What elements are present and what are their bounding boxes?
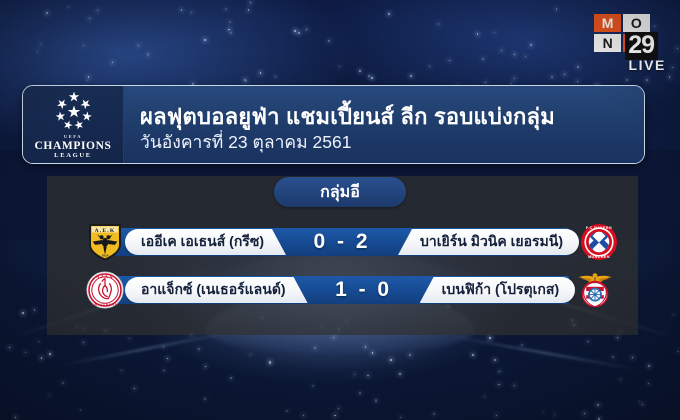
svg-text:AMSTERDAM: AMSTERDAM bbox=[91, 302, 119, 306]
mono-letter-m: M bbox=[594, 14, 621, 32]
page-subtitle-date: วันอังคารที่ 23 ตุลาคม 2561 bbox=[140, 132, 644, 153]
home-team-label: เออีเค เอเธนส์ (กรีซ) bbox=[141, 231, 264, 253]
champions-league-wordmark: UEFA CHAMPIONS LEAGUE bbox=[35, 135, 112, 160]
mono-letter-o1: O bbox=[623, 14, 650, 32]
match-score: 1 - 0 bbox=[308, 276, 420, 304]
match-row[interactable]: A.E.K 1924 เออีเค เอเธนส์ (กรีซ) 0 - 2 บ… bbox=[85, 222, 599, 262]
mono-letter-n: N bbox=[594, 34, 621, 52]
ajax-crest: AJAX AMSTERDAM bbox=[85, 270, 125, 310]
home-team-name: เออีเค เอเธนส์ (กรีซ) bbox=[125, 229, 286, 255]
svg-text:1924: 1924 bbox=[102, 254, 109, 258]
mono-channel-number: 29 bbox=[625, 32, 658, 60]
aek-athens-crest: A.E.K 1924 bbox=[85, 222, 125, 262]
svg-text:F.C.BAYERN: F.C.BAYERN bbox=[586, 226, 612, 230]
group-label-pill: กลุ่มอี bbox=[274, 177, 406, 207]
match-score: 0 - 2 bbox=[286, 228, 398, 256]
away-team-name: บาเยิร์น มิวนิค เยอรมนี) bbox=[398, 229, 579, 255]
bayern-munich-crest: F.C.BAYERN MÜNCHEN bbox=[579, 222, 619, 262]
header-title-bar: UEFA CHAMPIONS LEAGUE ผลฟุตบอลยูฟ่า แชมเ… bbox=[22, 85, 645, 164]
away-team-name: เบนฟิก้า (โปรตุเกส) bbox=[420, 277, 576, 303]
champions-league-logo: UEFA CHAMPIONS LEAGUE bbox=[23, 86, 124, 163]
header-text-block: ผลฟุตบอลยูฟ่า แชมเปี้ยนส์ ลีก รอบแบ่งกลุ… bbox=[124, 86, 644, 163]
benfica-crest bbox=[575, 270, 615, 310]
svg-text:A.E.K: A.E.K bbox=[95, 228, 116, 234]
page-title: ผลฟุตบอลยูฟ่า แชมเปี้ยนส์ ลีก รอบแบ่งกลุ… bbox=[140, 105, 644, 130]
league-label: LEAGUE bbox=[35, 153, 112, 160]
away-team-label: บาเยิร์น มิวนิค เยอรมนี) bbox=[420, 231, 563, 253]
champions-label: CHAMPIONS bbox=[35, 141, 112, 153]
match-row[interactable]: AJAX AMSTERDAM อาแจ็กซ์ (เนเธอร์แลนด์) 1… bbox=[85, 270, 599, 310]
svg-text:AJAX: AJAX bbox=[96, 274, 114, 279]
away-team-label: เบนฟิก้า (โปรตุเกส) bbox=[442, 279, 560, 301]
svg-text:MÜNCHEN: MÜNCHEN bbox=[588, 254, 610, 259]
channel-logo-mono29: M O N O 29 LIVE bbox=[572, 14, 668, 73]
champions-league-starball-icon bbox=[52, 92, 94, 132]
home-team-name: อาแจ็กซ์ (เนเธอร์แลนด์) bbox=[125, 277, 308, 303]
group-label-text: กลุ่มอี bbox=[320, 180, 360, 205]
home-team-label: อาแจ็กซ์ (เนเธอร์แลนด์) bbox=[141, 279, 286, 301]
